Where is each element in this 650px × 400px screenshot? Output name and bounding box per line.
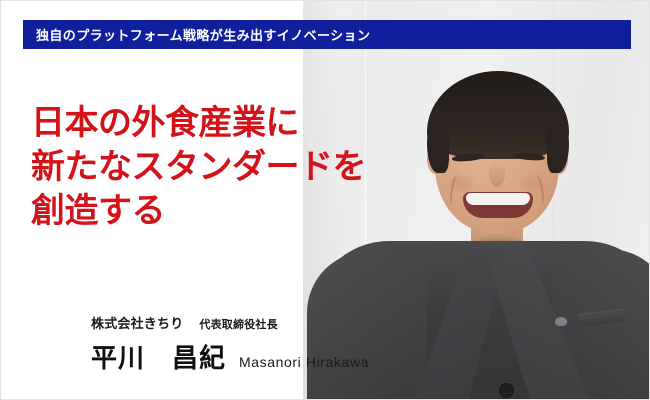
teeth xyxy=(466,193,530,205)
headline-line-1: 日本の外食産業に xyxy=(31,101,371,145)
hair-side-right xyxy=(547,115,569,173)
tagline-banner: 独自のプラットフォーム戦略が生み出すイノベーション xyxy=(23,20,631,49)
company-name: 株式会社きちり xyxy=(91,313,183,332)
nose xyxy=(489,161,505,187)
person-name-en: Masanori Hirakawa xyxy=(239,354,369,370)
mouth xyxy=(463,192,533,218)
hero-banner-slide: 独自のプラットフォーム戦略が生み出すイノベーション 日本の外食産業に 新たなスタ… xyxy=(0,0,650,400)
tagline-text: 独自のプラットフォーム戦略が生み出すイノベーション xyxy=(23,25,370,44)
profile-title-row: 株式会社きちり 代表取締役社長 xyxy=(91,313,391,332)
headline: 日本の外食産業に 新たなスタンダードを 創造する xyxy=(31,101,371,233)
person-name-ja: 平川 昌紀 xyxy=(91,338,226,375)
hair-side-left xyxy=(427,115,449,173)
profile-block: 株式会社きちり 代表取締役社長 平川 昌紀 Masanori Hirakawa xyxy=(91,313,391,375)
headline-line-2: 新たなスタンダードを xyxy=(31,145,371,189)
lapel-pin xyxy=(555,317,567,326)
profile-name-row: 平川 昌紀 Masanori Hirakawa xyxy=(91,338,391,375)
headline-line-3: 創造する xyxy=(31,189,371,233)
jacket-button xyxy=(499,383,514,398)
job-title: 代表取締役社長 xyxy=(199,316,277,332)
